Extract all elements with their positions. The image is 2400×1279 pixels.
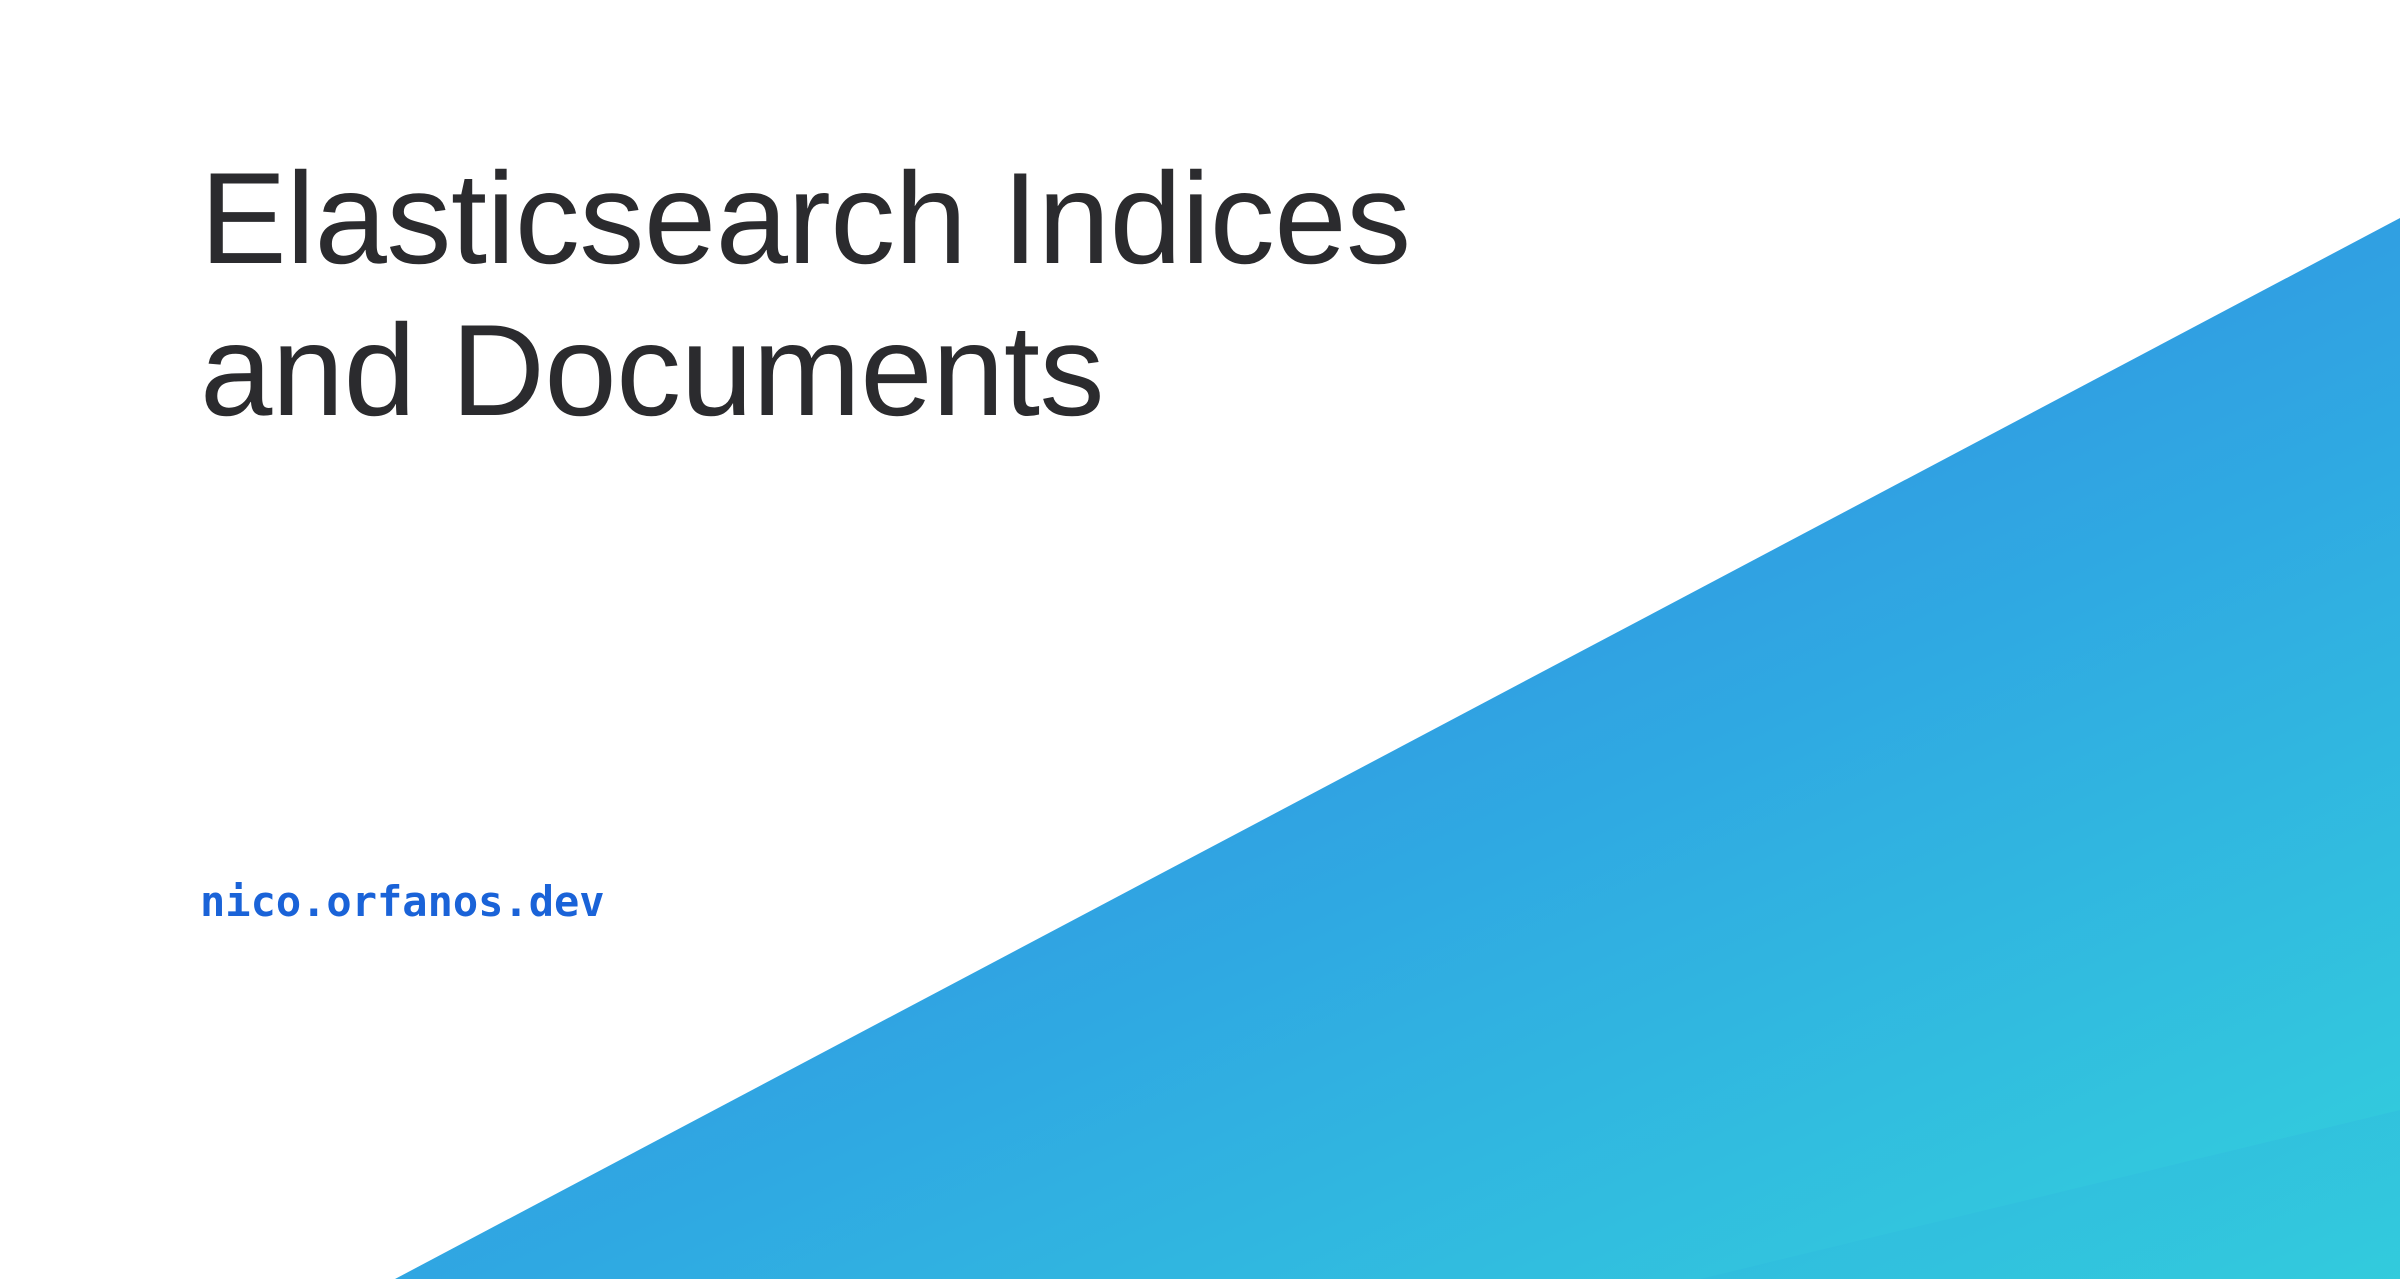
page-title: Elasticsearch Indices and Documents [200,142,1650,446]
slide-content: Elasticsearch Indices and Documents nico… [200,0,1700,1279]
overlay-diagonal-band [1700,1110,2400,1279]
author-site-link[interactable]: nico.orfanos.dev [200,878,605,926]
slide-canvas: Elasticsearch Indices and Documents nico… [0,0,2400,1279]
